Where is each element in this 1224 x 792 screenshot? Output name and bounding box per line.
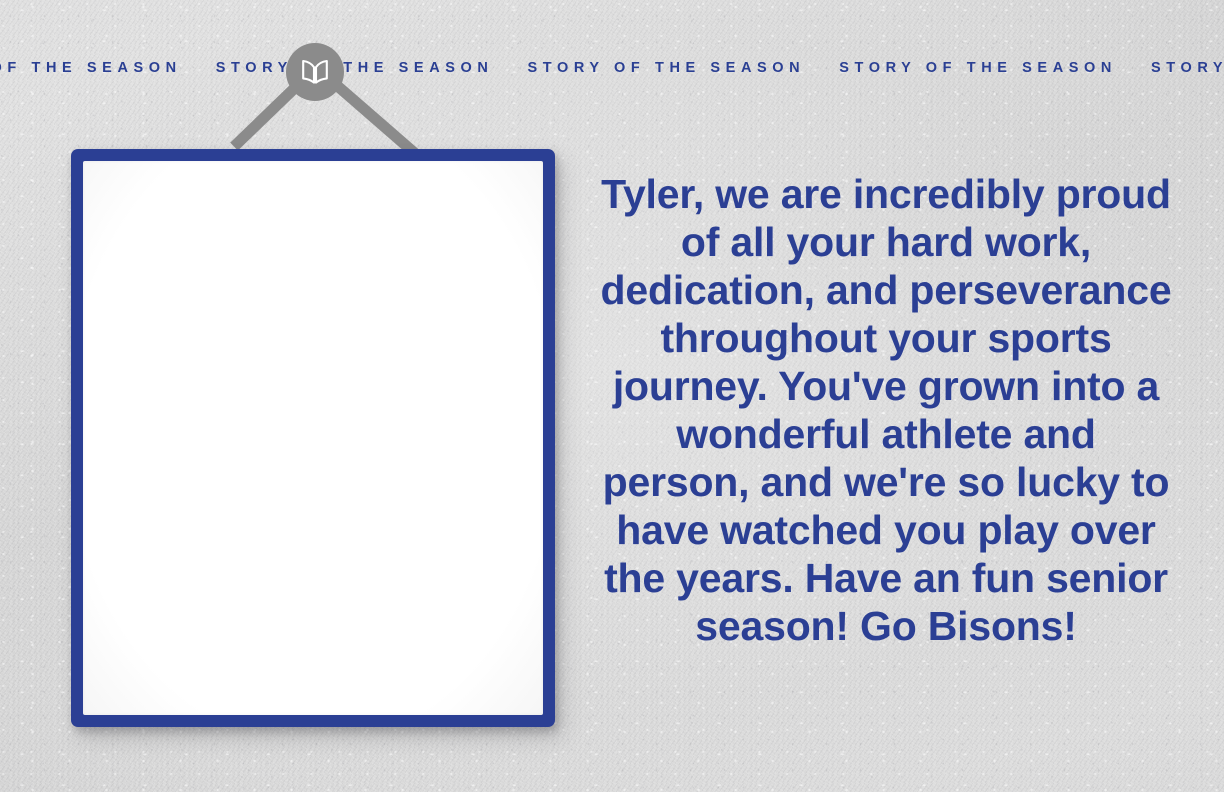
banner-strip: STORY OF THE SEASON STORY OF THE SEASON … xyxy=(0,46,1224,90)
banner-label: STORY OF THE SEASON xyxy=(839,60,1151,76)
banner-label: STORY OF THE SEASON xyxy=(528,60,840,76)
badge-circle xyxy=(286,43,344,101)
message-text: Tyler, we are incredibly proud of all yo… xyxy=(600,170,1172,650)
photo-frame[interactable] xyxy=(71,149,555,727)
banner-label: STORY OF THE SEASON xyxy=(0,60,216,76)
open-book-icon xyxy=(298,58,332,86)
banner-label: STORY OF THE SEASON xyxy=(216,60,528,76)
banner-label: STORY OF THE SEASON xyxy=(1151,60,1224,76)
photo-placeholder xyxy=(83,161,543,715)
slide-canvas: STORY OF THE SEASON STORY OF THE SEASON … xyxy=(0,0,1224,792)
banner-track: STORY OF THE SEASON STORY OF THE SEASON … xyxy=(0,60,1224,76)
